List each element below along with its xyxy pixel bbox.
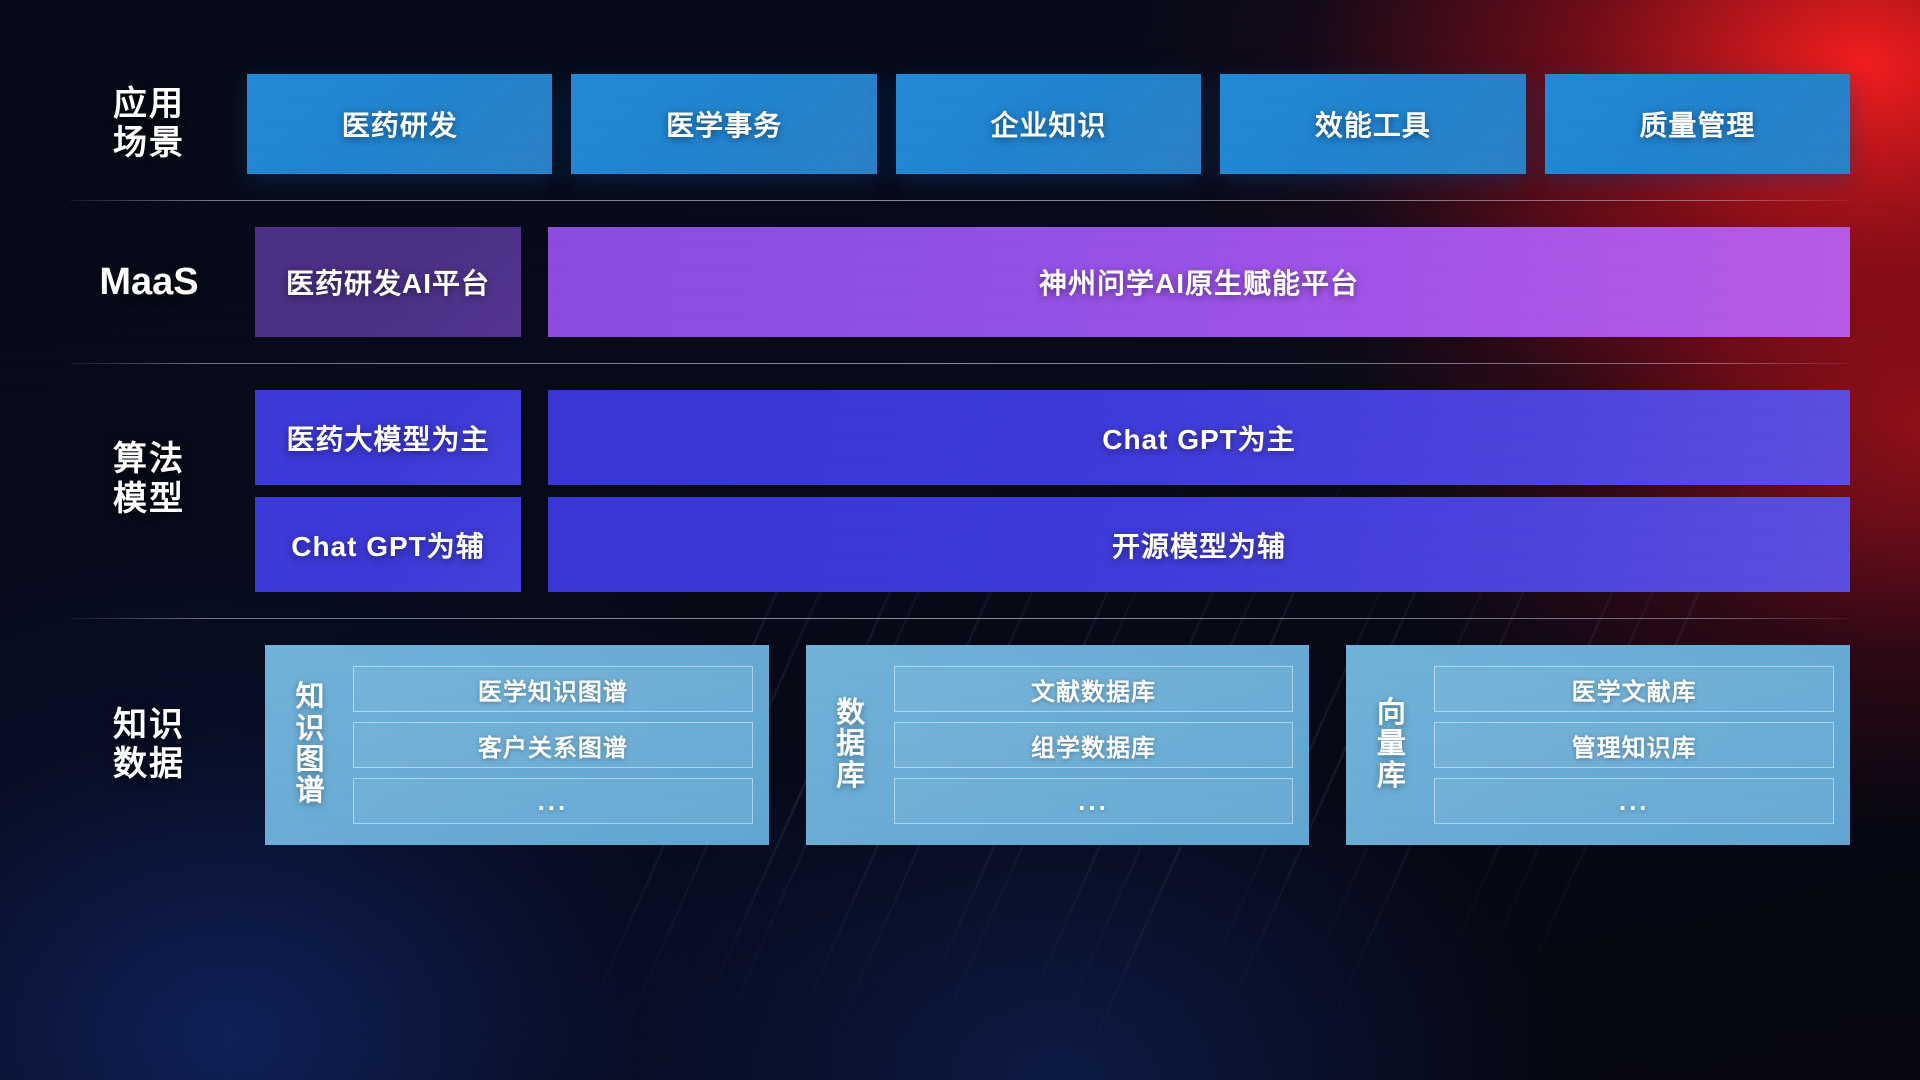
algo-card-pharma-llm-primary[interactable]: 医药大模型为主	[255, 390, 521, 485]
knowledge-group-vector-label: 向 量 库	[1360, 659, 1422, 831]
app-card-enterprise-knowledge[interactable]: 企业知识	[896, 74, 1201, 174]
app-card-efficiency-tools[interactable]: 效能工具	[1220, 74, 1525, 174]
vlabel-char: 库	[1377, 761, 1406, 792]
layer-label-line: MaaS	[99, 260, 198, 304]
knowledge-group-database[interactable]: 数 据 库 文献数据库 组学数据库 ...	[806, 645, 1310, 845]
algorithm-row-2-cards: Chat GPT为辅 开源模型为辅	[255, 497, 1850, 592]
vlabel-char: 向	[1377, 698, 1406, 729]
spacer	[70, 592, 1850, 618]
vlabel-char: 据	[836, 729, 865, 760]
layer-label-line: 应用	[113, 85, 185, 124]
application-cards: 医药研发 医学事务 企业知识 效能工具 质量管理	[247, 74, 1850, 174]
knowledge-group-database-label: 数 据 库	[820, 659, 882, 831]
layer-label-line: 数据	[113, 745, 185, 784]
knowledge-item[interactable]: 文献数据库	[894, 666, 1294, 712]
layer-maas: MaaS 医药研发AI平台 神州问学AI原生赋能平台	[70, 227, 1850, 337]
layer-algorithm-row-1: 算法 模型 医药大模型为主 Chat GPT为主	[70, 390, 1850, 485]
maas-card-pharma-ai-platform[interactable]: 医药研发AI平台	[255, 227, 521, 337]
layer-knowledge: 知识 数据 知 识 图 谱 医学知识图谱 客户关系图谱 ...	[70, 645, 1850, 845]
knowledge-group-vector[interactable]: 向 量 库 医学文献库 管理知识库 ...	[1346, 645, 1850, 845]
knowledge-item[interactable]: 医学文献库	[1434, 666, 1834, 712]
layer-label-algorithm: 算法 模型	[70, 390, 228, 485]
layer-label-maas: MaaS	[70, 227, 228, 337]
vlabel-char: 谱	[295, 776, 324, 807]
spacer	[70, 364, 1850, 390]
layer-label-line: 算法	[113, 440, 185, 479]
vlabel-char: 库	[836, 761, 865, 792]
app-card-rd[interactable]: 医药研发	[247, 74, 552, 174]
spacer	[70, 201, 1850, 227]
knowledge-group-graph[interactable]: 知 识 图 谱 医学知识图谱 客户关系图谱 ...	[265, 645, 769, 845]
vlabel-char: 图	[295, 745, 324, 776]
knowledge-group-vector-items: 医学文献库 管理知识库 ...	[1422, 659, 1834, 831]
knowledge-group-graph-items: 医学知识图谱 客户关系图谱 ...	[341, 659, 753, 831]
layer-algorithm-row-2: Chat GPT为辅 开源模型为辅	[70, 497, 1850, 592]
architecture-stack: 应用 场景 医药研发 医学事务 企业知识 效能工具 质量管理 MaaS	[70, 74, 1850, 845]
vlabel-char: 识	[295, 714, 324, 745]
vlabel-char: 数	[836, 698, 865, 729]
spacer	[70, 174, 1850, 200]
app-card-medical-affairs[interactable]: 医学事务	[571, 74, 876, 174]
knowledge-group-database-items: 文献数据库 组学数据库 ...	[882, 659, 1294, 831]
algorithm-row-1-cards: 医药大模型为主 Chat GPT为主	[255, 390, 1850, 485]
layer-label-algorithm-spacer	[70, 497, 228, 592]
knowledge-item[interactable]: 客户关系图谱	[353, 722, 753, 768]
maas-card-shenzhou-wenxue-platform[interactable]: 神州问学AI原生赋能平台	[548, 227, 1850, 337]
knowledge-item-more[interactable]: ...	[353, 778, 753, 824]
layer-label-line: 场景	[113, 124, 185, 163]
knowledge-group-graph-label: 知 识 图 谱	[279, 659, 341, 831]
layer-label-line: 知识	[113, 706, 185, 745]
vlabel-char: 量	[1377, 729, 1406, 760]
diagram-canvas: 应用 场景 医药研发 医学事务 企业知识 效能工具 质量管理 MaaS	[0, 0, 1920, 1080]
layer-label-knowledge: 知识 数据	[70, 645, 228, 845]
algo-card-chatgpt-primary[interactable]: Chat GPT为主	[548, 390, 1850, 485]
maas-cards: 医药研发AI平台 神州问学AI原生赋能平台	[255, 227, 1850, 337]
knowledge-item-more[interactable]: ...	[1434, 778, 1834, 824]
knowledge-item[interactable]: 管理知识库	[1434, 722, 1834, 768]
knowledge-item[interactable]: 组学数据库	[894, 722, 1294, 768]
layer-label-application: 应用 场景	[70, 74, 228, 174]
layer-application: 应用 场景 医药研发 医学事务 企业知识 效能工具 质量管理	[70, 74, 1850, 174]
app-card-quality-management[interactable]: 质量管理	[1545, 74, 1850, 174]
knowledge-item-more[interactable]: ...	[894, 778, 1294, 824]
algo-card-opensource-secondary[interactable]: 开源模型为辅	[548, 497, 1850, 592]
algo-card-chatgpt-secondary[interactable]: Chat GPT为辅	[255, 497, 521, 592]
spacer	[70, 337, 1850, 363]
spacer	[70, 619, 1850, 645]
knowledge-item[interactable]: 医学知识图谱	[353, 666, 753, 712]
knowledge-groups: 知 识 图 谱 医学知识图谱 客户关系图谱 ... 数 据	[265, 645, 1850, 845]
vlabel-char: 知	[295, 682, 324, 713]
